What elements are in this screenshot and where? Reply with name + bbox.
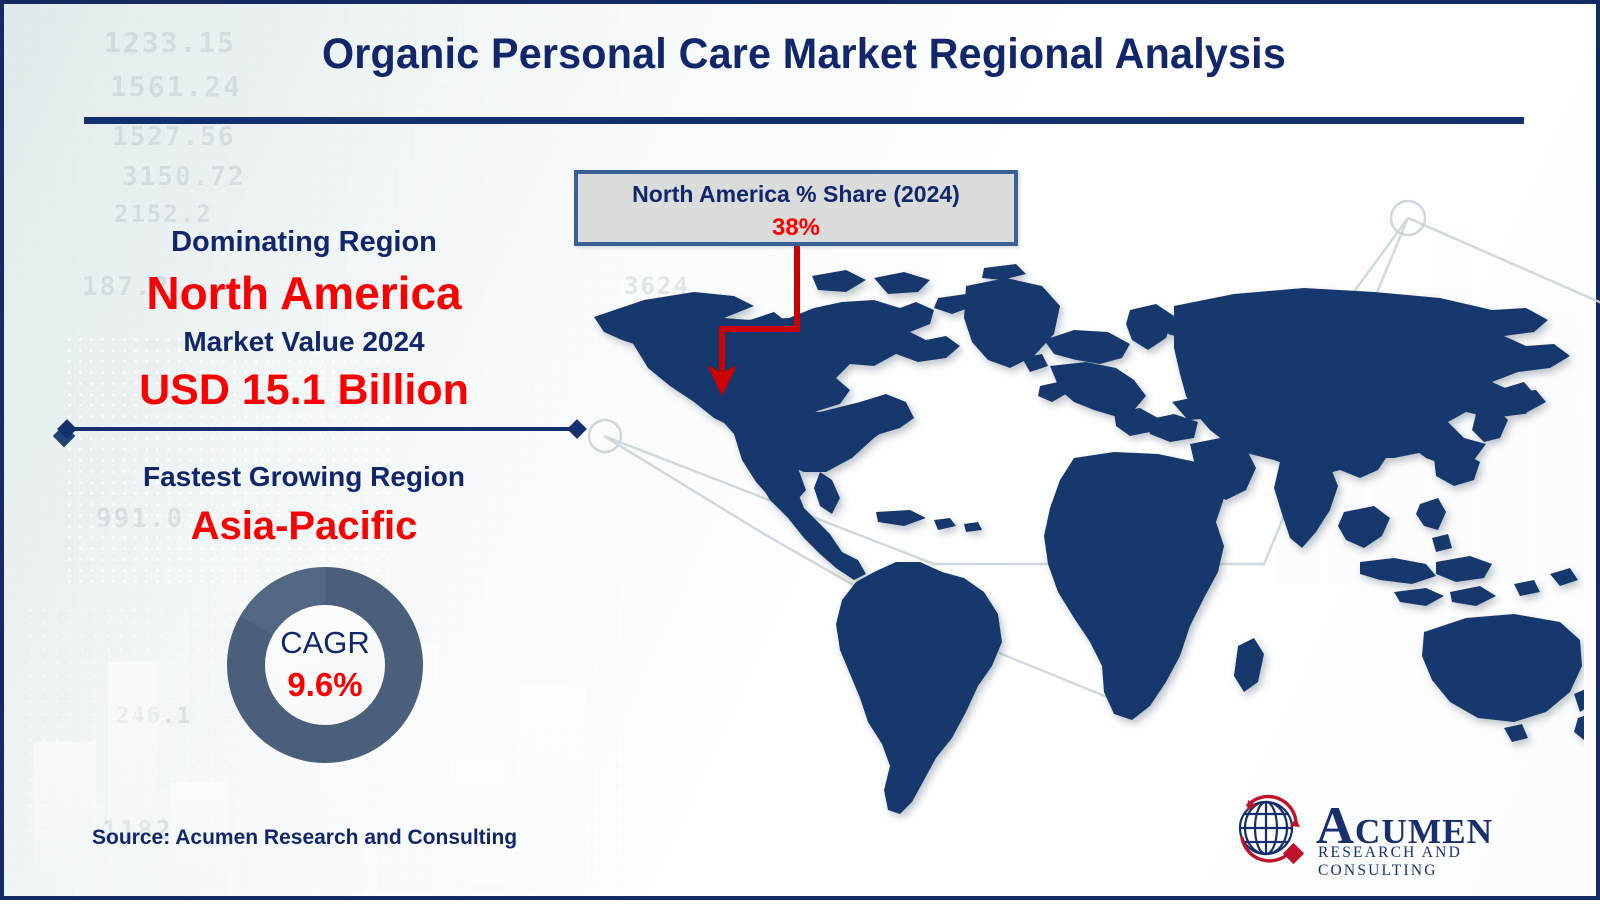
cagr-donut-chart: CAGR 9.6% [227, 567, 423, 763]
infographic-canvas: 1233.151561.241527.563150.72187.22152.29… [0, 0, 1600, 900]
donut-caption: CAGR [227, 625, 423, 661]
callout-value: 38% [578, 214, 1014, 242]
dominating-region-value: North America [0, 266, 614, 320]
market-value-value: USD 15.1 Billion [0, 366, 614, 415]
map-landmasses [594, 264, 1584, 814]
donut-hole [265, 605, 385, 725]
logo-tagline: RESEARCH AND CONSULTING [1318, 844, 1526, 880]
acumen-logo: ACUMEN RESEARCH AND CONSULTING [1226, 794, 1526, 874]
callout-title: North America % Share (2024) [578, 181, 1014, 208]
dominating-region-label: Dominating Region [0, 226, 614, 259]
divider-line [72, 427, 572, 431]
section-divider [60, 422, 584, 436]
fastest-growing-region-value: Asia-Pacific [0, 504, 614, 549]
market-value-label: Market Value 2024 [0, 326, 614, 358]
source-note: Source: Acumen Research and Consulting [92, 826, 517, 850]
globe-icon [1226, 794, 1316, 872]
title-underline [84, 117, 1524, 124]
fastest-growing-region-label: Fastest Growing Region [0, 461, 614, 493]
donut-value: 9.6% [227, 666, 423, 704]
page-title: Organic Personal Care Market Regional An… [36, 30, 1572, 79]
divider-diamond-right [567, 419, 587, 439]
world-map [574, 262, 1584, 822]
north-america-share-callout: North America % Share (2024) 38% [574, 170, 1018, 246]
